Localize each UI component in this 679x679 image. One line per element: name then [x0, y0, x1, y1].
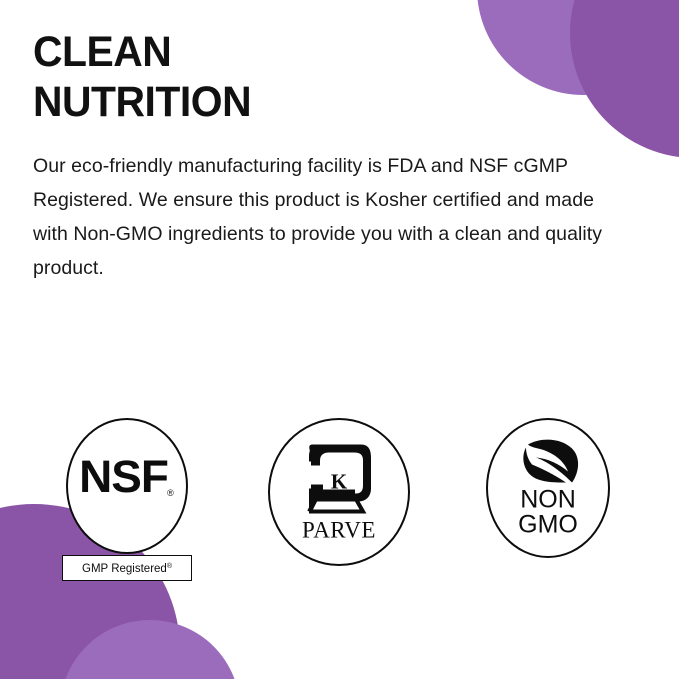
parve-label: PARVE [270, 518, 408, 543]
non-gmo-line-2: GMO [488, 513, 608, 538]
non-gmo-badge: NON GMO [486, 418, 610, 558]
kosher-seal-circle: K PARVE [268, 418, 410, 566]
kosher-parve-badge: K PARVE [268, 418, 410, 566]
headline-line-2: NUTRITION [33, 77, 603, 127]
leaf-icon-wrap [514, 439, 582, 485]
text-content-block: CLEAN NUTRITION Our eco-friendly manufac… [33, 27, 633, 285]
non-gmo-seal-content: NON GMO [488, 439, 608, 538]
gmp-registered-icon: ® [167, 563, 172, 570]
body-paragraph: Our eco-friendly manufacturing facility … [33, 149, 633, 285]
gmp-registered-caption-box: GMP Registered® [62, 555, 192, 581]
page-title: CLEAN NUTRITION [33, 27, 633, 127]
headline-line-1: CLEAN [33, 27, 603, 77]
non-gmo-label: NON GMO [488, 488, 608, 538]
clean-nutrition-infographic: CLEAN NUTRITION Our eco-friendly manufac… [0, 0, 679, 679]
kosher-seal-content: K PARVE [270, 442, 408, 543]
nsf-wordmark: NSF® [68, 454, 186, 516]
certification-badges-row: NSF® GMP Registered® [0, 418, 679, 618]
non-gmo-line-1: NON [488, 488, 608, 513]
nsf-gmp-registered-badge: NSF® GMP Registered® [66, 418, 188, 554]
nsf-seal-circle: NSF® [66, 418, 188, 554]
non-gmo-seal-circle: NON GMO [486, 418, 610, 558]
kosher-k-letter: K [303, 472, 375, 493]
leaf-icon [514, 439, 582, 485]
gmp-registered-label: GMP Registered [82, 563, 167, 575]
nsf-mark-text: NSF [79, 454, 168, 499]
nsf-registered-icon: ® [167, 488, 174, 498]
hebrew-kaf-glyph-wrap: K [303, 442, 375, 516]
